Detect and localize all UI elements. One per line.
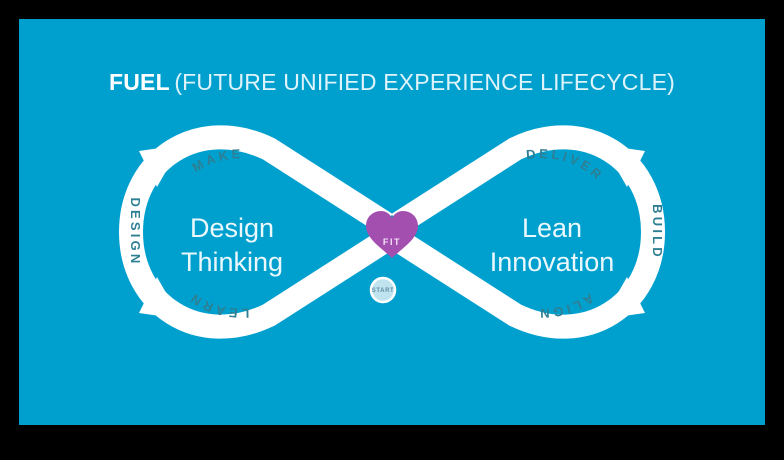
stage-label-build: BUILD — [650, 204, 665, 260]
right-loop-title-line1: Lean — [522, 213, 582, 243]
left-loop-title-line1: Design — [190, 213, 274, 243]
screenshot-frame: FUEL (FUTURE UNIFIED EXPERIENCE LIFECYCL… — [0, 0, 784, 460]
right-loop-title-line2: Innovation — [490, 247, 615, 277]
start-label: START — [372, 288, 395, 294]
fit-label: FIT — [383, 237, 401, 247]
left-loop-title-line2: Thinking — [181, 247, 283, 277]
stage-label-design: DESIGN — [128, 197, 143, 266]
diagram-panel: FUEL (FUTURE UNIFIED EXPERIENCE LIFECYCL… — [19, 19, 765, 425]
fuel-infinity-diagram: MAKE LEARN DELIVER ALIGN DESIGN BUILD De… — [19, 19, 765, 425]
start-marker: START — [371, 278, 395, 302]
